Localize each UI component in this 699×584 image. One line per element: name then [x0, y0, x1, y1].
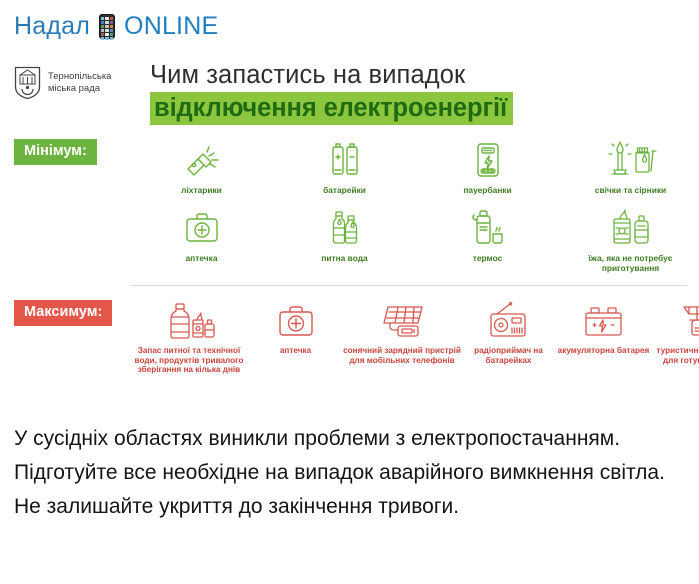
- infographic-title: Чим запастись на випадок відключення еле…: [150, 58, 513, 125]
- item-label: аптечка: [280, 346, 311, 356]
- post-container: Надал ONLINE: [0, 0, 699, 584]
- item-flashlight: ліхтарики: [130, 139, 273, 195]
- ternopil-city-council-logo: Тернопільська міська рада: [14, 58, 138, 100]
- thermos-icon: [467, 207, 509, 249]
- infographic-image[interactable]: Тернопільська міська рада Чим запастись …: [0, 52, 699, 410]
- item-label: свічки та сірники: [595, 185, 666, 195]
- first-aid-kit-icon: [182, 207, 222, 249]
- minimum-label-wrap: Мінімум:: [14, 139, 130, 165]
- item-camp-stove: туристичний примус для готування їжі: [651, 300, 699, 365]
- mobile-phone-icon: [99, 14, 115, 39]
- minimum-items: ліхтарики: [130, 139, 699, 273]
- item-solar-charger: сонячний зарядний пристрій для мобільних…: [343, 300, 461, 365]
- canned-food-icon: [608, 207, 654, 249]
- minimum-section: Мінімум: ліхтарики: [14, 139, 685, 273]
- first-aid-kit-icon: [275, 300, 317, 342]
- maximum-badge: Максимум:: [14, 300, 112, 326]
- maximum-items: Запас питної та технічної води, продукті…: [130, 300, 699, 375]
- item-first-aid-kit: аптечка: [130, 207, 273, 263]
- drinking-water-icon: [325, 207, 365, 249]
- minimum-badge: Мінімум:: [14, 139, 97, 165]
- title-line-2-highlighted: відключення електроенергії: [150, 92, 513, 125]
- candles-matches-icon: [604, 139, 658, 181]
- car-battery-icon: [581, 300, 627, 342]
- item-label: ліхтарики: [181, 185, 222, 195]
- post-paragraph: У сусідніх областях виникли проблеми з е…: [14, 422, 683, 524]
- item-label: питна вода: [321, 253, 367, 263]
- title-line-1: Чим запастись на випадок: [150, 60, 513, 90]
- item-canned-food: їжа, яка не потребує приготування: [559, 207, 699, 273]
- item-batteries: батарейки: [273, 139, 416, 195]
- item-thermos: термос: [416, 207, 559, 263]
- item-water-supply: Запас питної та технічної води, продукті…: [130, 300, 248, 375]
- item-first-aid-kit-max: аптечка: [248, 300, 343, 356]
- solar-charger-icon: [376, 300, 428, 342]
- minimum-row-2: аптечка: [130, 207, 699, 273]
- logo-text: Тернопільська міська рада: [48, 71, 111, 95]
- maximum-section: Максимум:: [14, 300, 685, 375]
- section-divider: [130, 285, 687, 286]
- logo-text-line2: міська рада: [48, 83, 111, 95]
- item-car-battery: акумуляторна батарея: [556, 300, 651, 356]
- channel-status-online[interactable]: ONLINE: [124, 14, 218, 39]
- item-label: радіоприймач на батарейках: [461, 346, 556, 365]
- post-text: У сусідніх областях виникли проблеми з е…: [0, 410, 699, 524]
- channel-name[interactable]: Надал: [14, 14, 90, 39]
- item-label: Запас питної та технічної води, продукті…: [130, 346, 248, 375]
- water-supply-icon: [160, 300, 218, 342]
- item-label: їжа, яка не потребує приготування: [559, 253, 699, 273]
- radio-icon: [486, 300, 532, 342]
- item-label: туристичний примус для готування їжі: [651, 346, 699, 365]
- item-label: батарейки: [323, 185, 366, 195]
- item-label: акумуляторна батарея: [558, 346, 650, 356]
- item-candles-matches: свічки та сірники: [559, 139, 699, 195]
- minimum-row-1: ліхтарики: [130, 139, 699, 195]
- logo-text-line1: Тернопільська: [48, 71, 111, 83]
- powerbank-icon: [471, 139, 505, 181]
- item-radio: радіоприймач на батарейках: [461, 300, 556, 365]
- item-label: сонячний зарядний пристрій для мобільних…: [343, 346, 461, 365]
- ternopil-city-crest-icon: [14, 66, 41, 100]
- camp-stove-icon: [676, 300, 699, 342]
- flashlight-icon: [182, 139, 222, 181]
- item-powerbank: пауербанки: [416, 139, 559, 195]
- item-label: термос: [473, 253, 503, 263]
- batteries-icon: [327, 139, 363, 181]
- item-drinking-water: питна вода: [273, 207, 416, 263]
- maximum-label-wrap: Максимум:: [14, 300, 130, 326]
- item-label: аптечка: [186, 253, 218, 263]
- infographic-header: Тернопільська міська рада Чим запастись …: [14, 58, 685, 125]
- item-label: пауербанки: [463, 185, 511, 195]
- maximum-row: Запас питної та технічної води, продукті…: [130, 300, 699, 375]
- channel-header: Надал ONLINE: [0, 0, 699, 52]
